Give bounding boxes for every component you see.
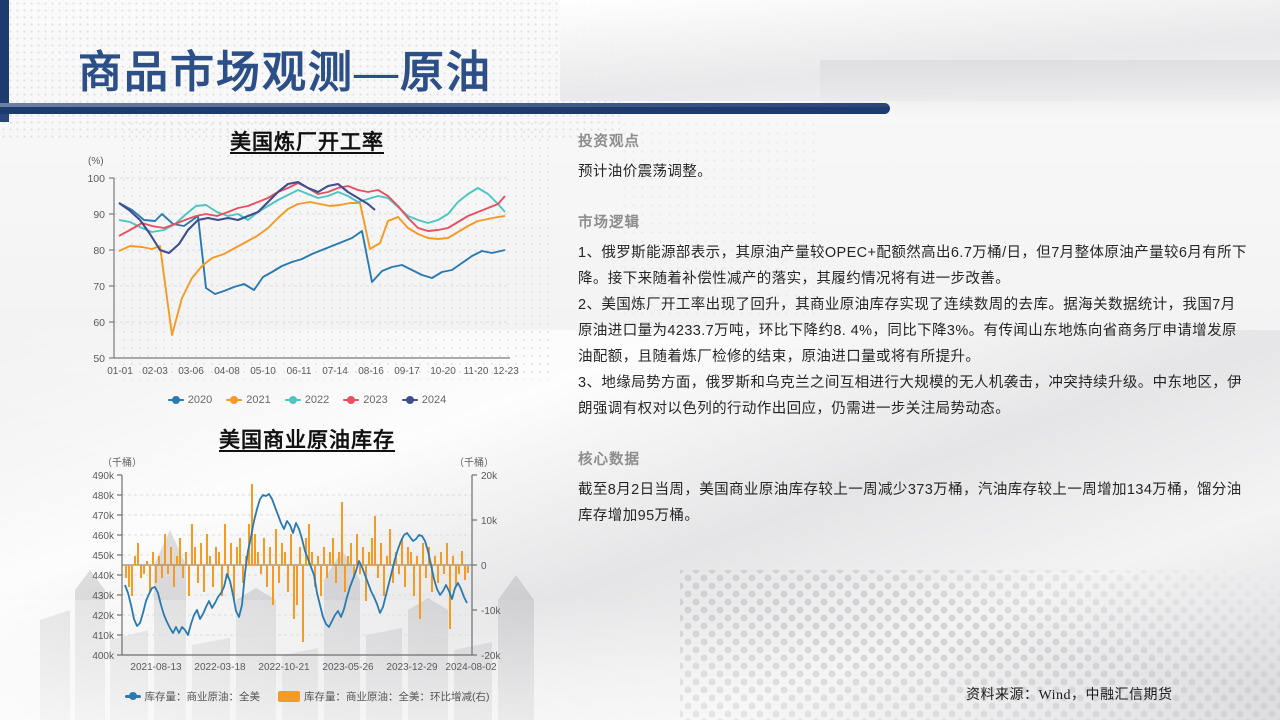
- axis-unit-right-kbbl: （千桶）: [454, 454, 494, 469]
- svg-text:450k: 450k: [92, 551, 115, 562]
- section-heading-investment-view: 投资观点: [578, 130, 1250, 151]
- svg-text:50: 50: [93, 353, 105, 365]
- legend-line-icon-2024: [402, 399, 418, 402]
- svg-text:2023-05-26: 2023-05-26: [322, 662, 374, 673]
- paragraph-core-data: 截至8月2日当周，美国商业原油库存较上一周减少373万桶，汽油库存较上一周增加1…: [578, 477, 1250, 529]
- legend-label: 2023: [363, 394, 387, 406]
- axis-unit-percent: (%): [88, 156, 104, 167]
- svg-text:80: 80: [93, 245, 105, 257]
- chart-inventory-svg: 490k480k 470k460k 450k440k 430k420k 410k…: [72, 455, 542, 687]
- svg-text:470k: 470k: [92, 511, 115, 522]
- svg-text:-20k: -20k: [481, 651, 501, 662]
- chart-title-refinery: 美国炼厂开工率: [72, 126, 542, 156]
- legend-item-2024[interactable]: 2024: [402, 394, 446, 406]
- svg-text:-10k: -10k: [481, 606, 501, 617]
- legend-line-icon-2020: [168, 399, 184, 402]
- header-divider: [0, 101, 920, 117]
- svg-text:70: 70: [93, 281, 105, 293]
- svg-text:2022-03-18: 2022-03-18: [194, 662, 246, 673]
- legend-item-2020[interactable]: 2020: [168, 394, 212, 406]
- svg-text:06-11: 06-11: [287, 366, 312, 377]
- chart-crude-inventory: 美国商业原油库存 （千桶） （千桶）: [72, 424, 542, 704]
- page-title: 商品市场观测—原油: [78, 36, 492, 100]
- legend-bar-icon-change: [278, 691, 300, 702]
- svg-text:420k: 420k: [92, 611, 115, 622]
- section-core-data: 核心数据 截至8月2日当周，美国商业原油库存较上一周减少373万桶，汽油库存较上…: [578, 448, 1250, 529]
- paragraph-market-logic-1: 1、俄罗斯能源部表示，其原油产量较OPEC+配额然高出6.7万桶/日，但7月整体…: [578, 240, 1250, 292]
- chart-refinery-svg: 10090 8070 6050 01-0102-03 03-0604-08 05…: [72, 158, 542, 390]
- svg-text:2024-08-02: 2024-08-02: [445, 662, 497, 673]
- paragraph-market-logic-2: 2、美国炼厂开工率出现了回升，其商业原油库存实现了连续数周的去库。据海关数据统计…: [578, 292, 1250, 370]
- svg-text:460k: 460k: [92, 531, 115, 542]
- legend-line-icon-2021: [226, 399, 242, 402]
- spacer: [578, 422, 1250, 448]
- left-accent-bar: [0, 0, 9, 108]
- svg-text:400k: 400k: [92, 651, 115, 662]
- svg-text:03-06: 03-06: [178, 366, 204, 377]
- paragraph-investment-view: 预计油价震荡调整。: [578, 159, 1250, 185]
- section-market-logic: 市场逻辑 1、俄罗斯能源部表示，其原油产量较OPEC+配额然高出6.7万桶/日，…: [578, 211, 1250, 422]
- legend-line-icon-2023: [343, 399, 359, 402]
- svg-text:90: 90: [93, 209, 105, 221]
- legend-item-inventory-line[interactable]: 库存量：商业原油：全美: [125, 689, 261, 704]
- chart-refinery-utilization: 美国炼厂开工率 (%): [72, 126, 542, 406]
- legend-label: 库存量：商业原油：全美: [145, 689, 261, 704]
- svg-text:2021-08-13: 2021-08-13: [130, 662, 182, 673]
- legend-label: 2020: [188, 394, 212, 406]
- svg-text:08-16: 08-16: [358, 366, 384, 377]
- commentary-panel: 投资观点 预计油价震荡调整。 市场逻辑 1、俄罗斯能源部表示，其原油产量较OPE…: [578, 130, 1250, 529]
- svg-text:02-03: 02-03: [142, 366, 168, 377]
- paragraph-market-logic-3: 3、地缘局势方面，俄罗斯和乌克兰之间互相进行大规模的无人机袭击，冲突持续升级。中…: [578, 370, 1250, 422]
- slide-page: 商品市场观测—原油 美国炼厂开工率 (%): [0, 0, 1280, 720]
- svg-text:20k: 20k: [481, 471, 498, 482]
- legend-label: 库存量：商业原油：全美：环比增减(右): [304, 689, 490, 704]
- svg-text:05-10: 05-10: [250, 366, 276, 377]
- svg-text:10k: 10k: [481, 516, 498, 527]
- legend-label: 2024: [422, 394, 446, 406]
- svg-text:430k: 430k: [92, 591, 115, 602]
- axis-unit-left-kbbl: （千桶）: [102, 454, 142, 469]
- source-note: 资料来源：Wind，中融汇信期货: [966, 684, 1173, 704]
- svg-text:0: 0: [481, 561, 487, 572]
- chart-title-inventory: 美国商业原油库存: [72, 424, 542, 454]
- svg-text:12-23: 12-23: [493, 366, 519, 377]
- legend-line-icon-inventory: [125, 695, 141, 698]
- section-investment-view: 投资观点 预计油价震荡调整。: [578, 130, 1250, 185]
- legend-item-2023[interactable]: 2023: [343, 394, 387, 406]
- legend-item-inventory-change[interactable]: 库存量：商业原油：全美：环比增减(右): [278, 689, 490, 704]
- legend-line-icon-2022: [285, 399, 301, 402]
- svg-text:100: 100: [87, 173, 105, 185]
- svg-text:480k: 480k: [92, 491, 115, 502]
- legend-item-2021[interactable]: 2021: [226, 394, 270, 406]
- svg-text:07-14: 07-14: [322, 366, 348, 377]
- legend-label: 2021: [246, 394, 270, 406]
- legend-label: 2022: [305, 394, 329, 406]
- chart-refinery-legend: 2020 2021 2022 2023 2024: [72, 394, 542, 406]
- svg-text:04-08: 04-08: [214, 366, 240, 377]
- svg-text:01-01: 01-01: [107, 366, 133, 377]
- svg-text:2022-10-21: 2022-10-21: [258, 662, 310, 673]
- spacer: [578, 185, 1250, 211]
- svg-text:11-20: 11-20: [464, 366, 489, 377]
- legend-item-2022[interactable]: 2022: [285, 394, 329, 406]
- section-heading-market-logic: 市场逻辑: [578, 211, 1250, 232]
- chart-inventory-legend: 库存量：商业原油：全美 库存量：商业原油：全美：环比增减(右): [72, 689, 542, 704]
- svg-text:490k: 490k: [92, 471, 115, 482]
- svg-text:09-17: 09-17: [394, 366, 420, 377]
- svg-text:10-20: 10-20: [430, 366, 456, 377]
- svg-text:410k: 410k: [92, 631, 115, 642]
- svg-text:440k: 440k: [92, 571, 115, 582]
- section-heading-core-data: 核心数据: [578, 448, 1250, 469]
- svg-text:2023-12-29: 2023-12-29: [386, 662, 438, 673]
- svg-text:60: 60: [93, 317, 105, 329]
